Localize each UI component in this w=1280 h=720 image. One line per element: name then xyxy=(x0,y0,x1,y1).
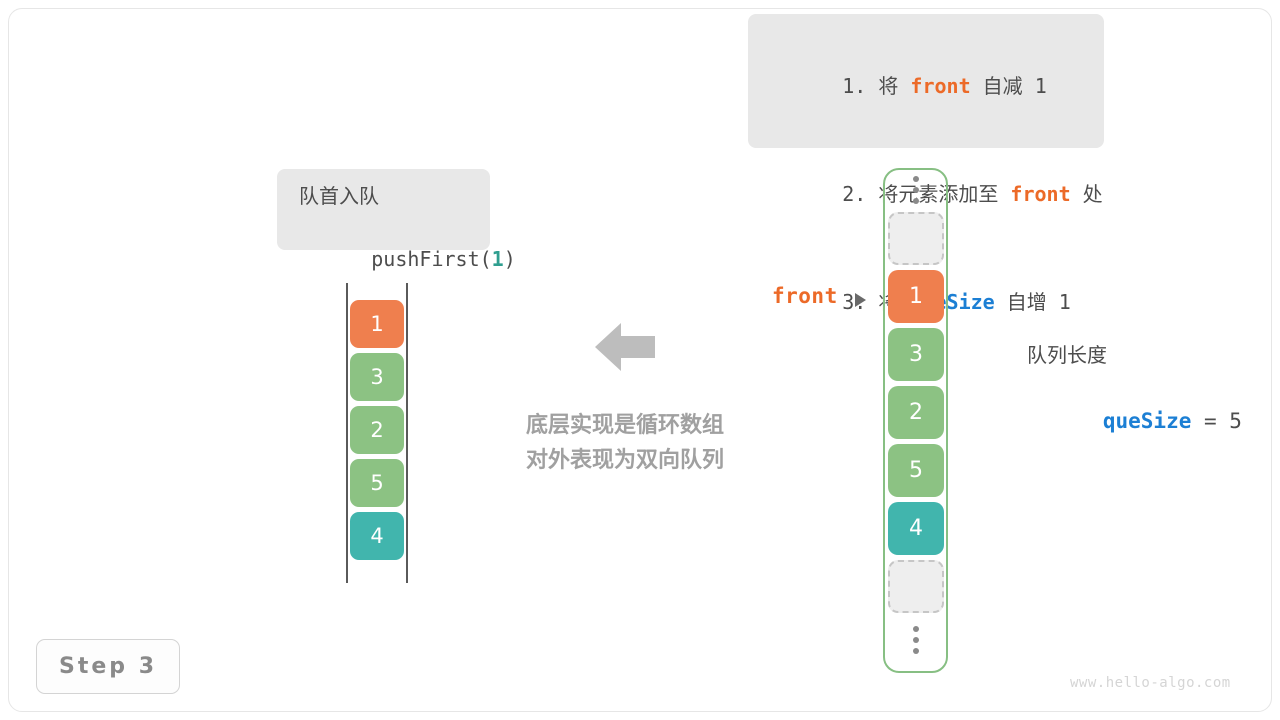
step-badge-label: Step 3 xyxy=(59,654,157,679)
circular-cell: 3 xyxy=(888,328,944,381)
instruction-box: 1. 将 front 自减 1 2. 将元素添加至 front 处 3. 将 q… xyxy=(748,14,1104,148)
step-badge: Step 3 xyxy=(36,639,180,694)
operation-label-box: 队首入队 pushFirst(1) xyxy=(277,169,490,250)
operation-title: 队首入队 xyxy=(299,181,470,211)
queue-size-value: = 5 xyxy=(1191,409,1242,433)
deque-rail-left xyxy=(346,283,348,583)
caption-line-1: 底层实现是循环数组 xyxy=(470,408,780,443)
queue-size-title: 队列长度 xyxy=(1027,340,1257,370)
watermark: www.hello-algo.com xyxy=(1070,675,1231,691)
linear-cell: 4 xyxy=(350,512,404,560)
instruction-2-suffix: 处 xyxy=(1071,182,1103,206)
front-pointer-label: front xyxy=(772,284,838,308)
linear-deque: 1 3 2 5 4 xyxy=(340,283,416,583)
linear-cell: 5 xyxy=(350,459,404,507)
circular-cell: 5 xyxy=(888,444,944,497)
center-caption: 底层实现是循环数组 对外表现为双向队列 xyxy=(470,408,780,478)
queue-size-variable: queSize xyxy=(1103,409,1192,433)
circular-cell: 2 xyxy=(888,386,944,439)
instruction-1-prefix: 1. 将 xyxy=(842,74,910,98)
linear-cell: 2 xyxy=(350,406,404,454)
circular-array: 1 3 2 5 4 xyxy=(888,168,944,673)
operation-call-suffix: ) xyxy=(504,247,516,271)
front-pointer-arrow-icon xyxy=(855,293,866,307)
circular-cell-empty xyxy=(888,212,944,265)
ellipsis-bottom-icon xyxy=(888,618,944,662)
ellipsis-top-icon xyxy=(888,168,944,212)
caption-line-2: 对外表现为双向队列 xyxy=(470,443,780,478)
circular-cell: 1 xyxy=(888,270,944,323)
instruction-1-keyword: front xyxy=(910,74,970,98)
operation-call-prefix: pushFirst( xyxy=(371,247,491,271)
deque-rail-right xyxy=(406,283,408,583)
queue-size-info: 队列长度 queSize = 5 xyxy=(1027,340,1257,472)
circular-cell: 4 xyxy=(888,502,944,555)
transform-arrow-icon xyxy=(595,320,655,374)
instruction-3-suffix: 自增 1 xyxy=(995,290,1071,314)
instruction-line-1: 1. 将 front 自减 1 xyxy=(770,32,1082,140)
linear-cell: 3 xyxy=(350,353,404,401)
linear-deque-cells: 1 3 2 5 4 xyxy=(350,300,404,565)
operation-call-arg: 1 xyxy=(492,247,504,271)
instruction-1-suffix: 自减 1 xyxy=(971,74,1047,98)
diagram-canvas: 1. 将 front 自减 1 2. 将元素添加至 front 处 3. 将 q… xyxy=(0,0,1280,720)
linear-cell: 1 xyxy=(350,300,404,348)
queue-size-expression: queSize = 5 xyxy=(1027,370,1257,472)
instruction-2-keyword: front xyxy=(1010,182,1070,206)
circular-cell-empty xyxy=(888,560,944,613)
